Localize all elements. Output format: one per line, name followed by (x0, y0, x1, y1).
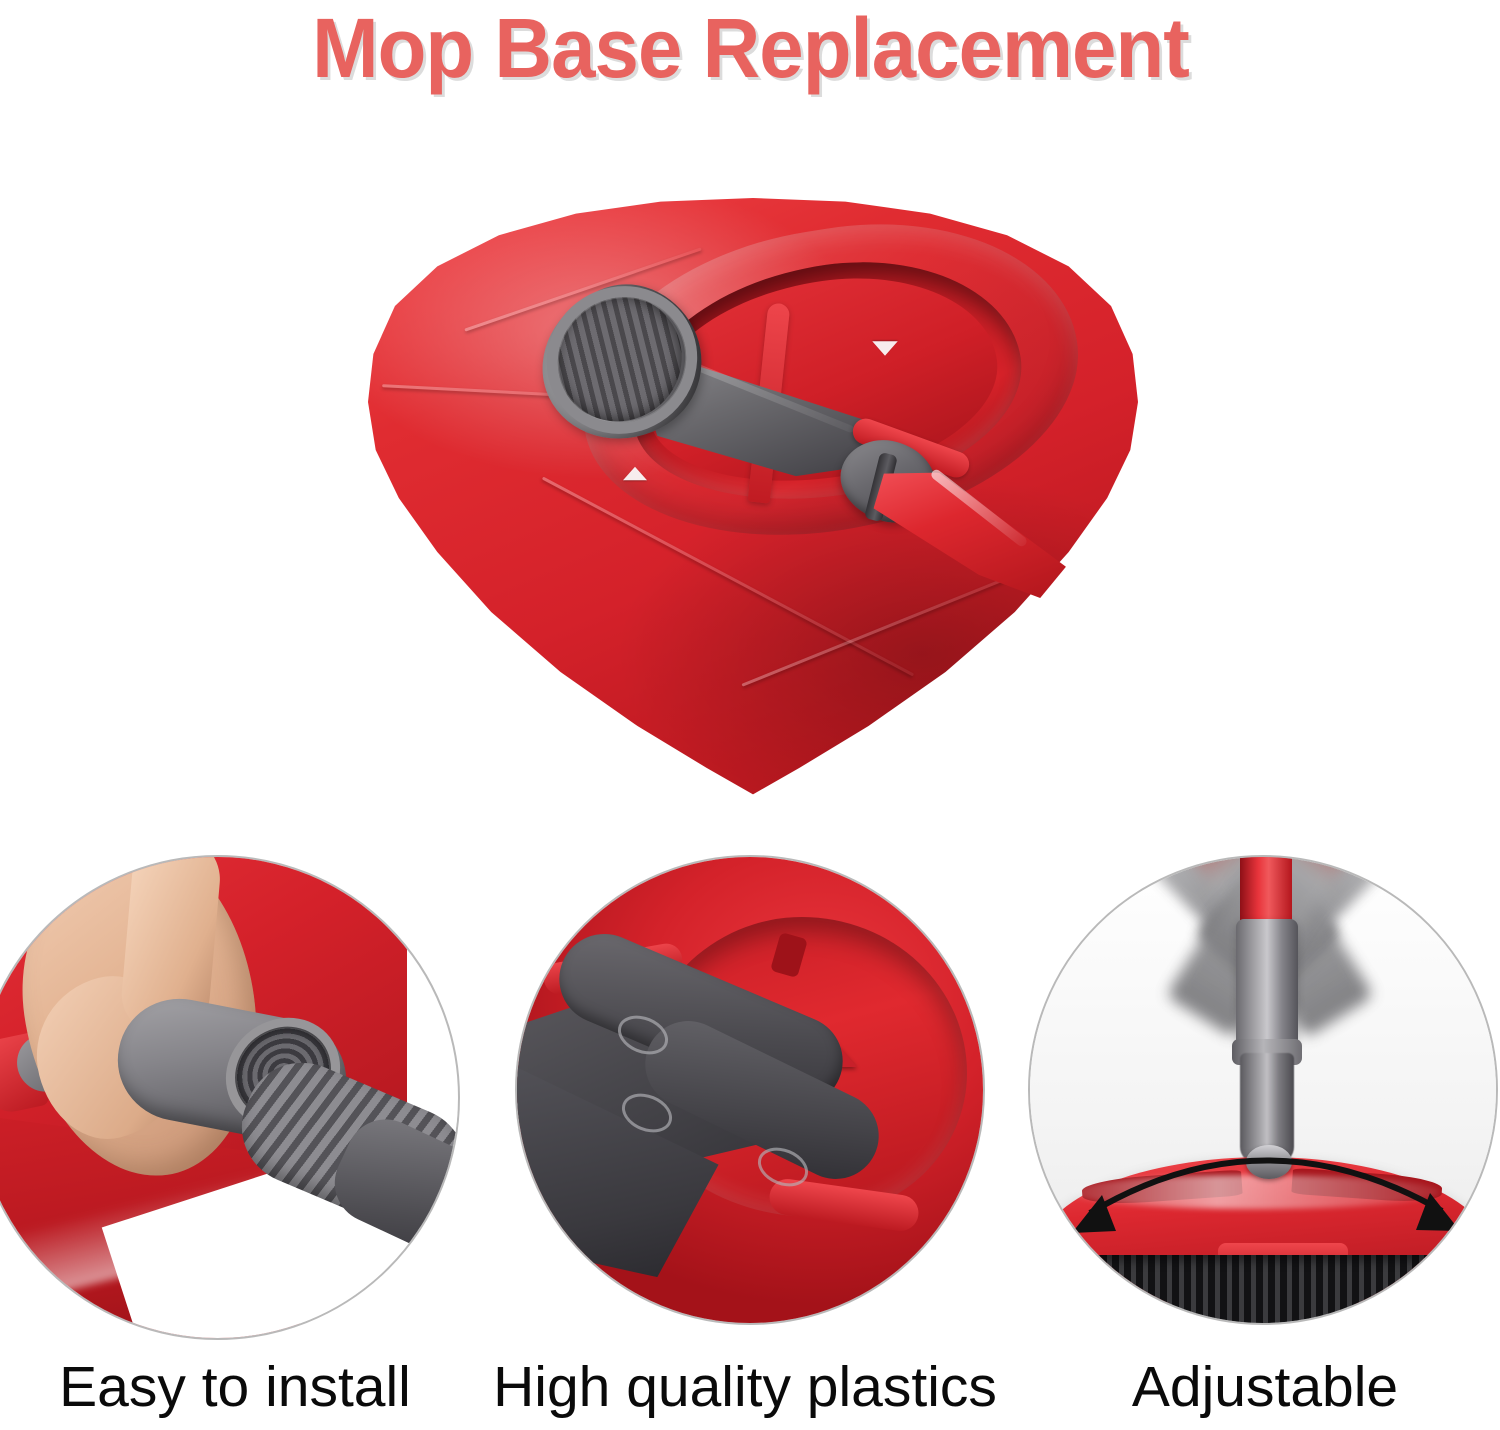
page-title: Mop Base Replacement (312, 6, 1189, 90)
feature-caption-adjustable: Adjustable (1030, 1352, 1500, 1422)
product-illustration (330, 170, 1170, 830)
feature-image-adjustable (1028, 855, 1498, 1325)
handle-red-band (1240, 855, 1292, 929)
mop-bristles (1076, 1255, 1456, 1325)
feature-image-easy-to-install (0, 855, 460, 1340)
title-bar: Mop Base Replacement (0, 0, 1500, 95)
connector-assembly (520, 265, 940, 605)
feature-image-high-quality-plastics (515, 855, 985, 1325)
feature-caption-high-quality-plastics: High quality plastics (480, 1352, 1010, 1422)
handle-pole (1236, 919, 1298, 1049)
feature-caption-easy-to-install: Easy to install (0, 1352, 470, 1422)
hero-product-image (330, 170, 1170, 830)
adjustable-arc-arrow-icon (1030, 1087, 1498, 1257)
